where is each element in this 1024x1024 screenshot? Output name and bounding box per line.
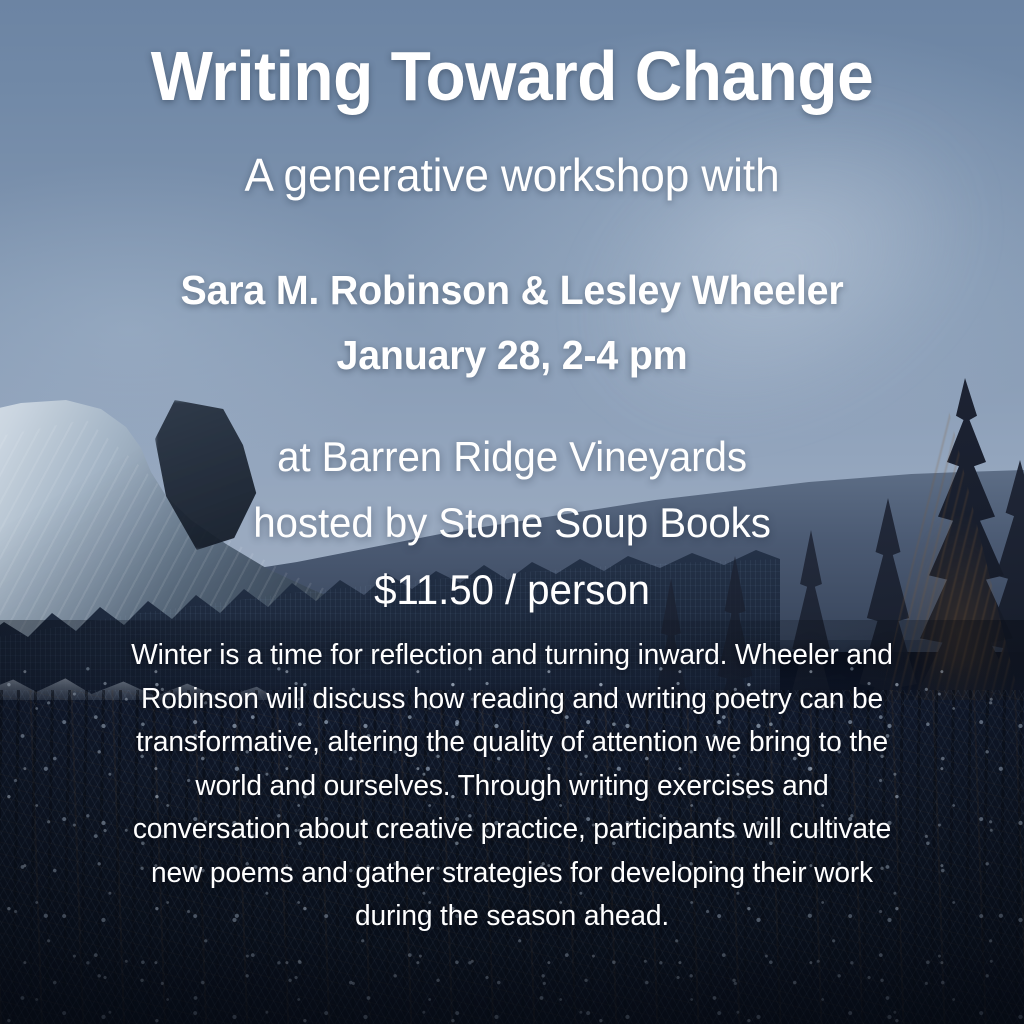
poster-text-overlay: Writing Toward Change A generative works… bbox=[0, 0, 1024, 1024]
poster-title: Writing Toward Change bbox=[31, 41, 994, 111]
event-details-block: at Barren Ridge Vineyards hosted by Ston… bbox=[20, 424, 1003, 623]
event-description: Winter is a time for reflection and turn… bbox=[130, 634, 894, 939]
event-date-time: January 28, 2-4 pm bbox=[20, 323, 1003, 388]
poster-subtitle: A generative workshop with bbox=[20, 152, 1003, 198]
event-venue: at Barren Ridge Vineyards bbox=[20, 424, 1003, 490]
poster-canvas: Writing Toward Change A generative works… bbox=[0, 0, 1024, 1024]
event-host: hosted by Stone Soup Books bbox=[20, 490, 1003, 556]
presenter-names: Sara M. Robinson & Lesley Wheeler bbox=[20, 258, 1003, 323]
presenter-block: Sara M. Robinson & Lesley Wheeler Januar… bbox=[20, 258, 1003, 388]
event-price: $11.50 / person bbox=[20, 557, 1003, 623]
